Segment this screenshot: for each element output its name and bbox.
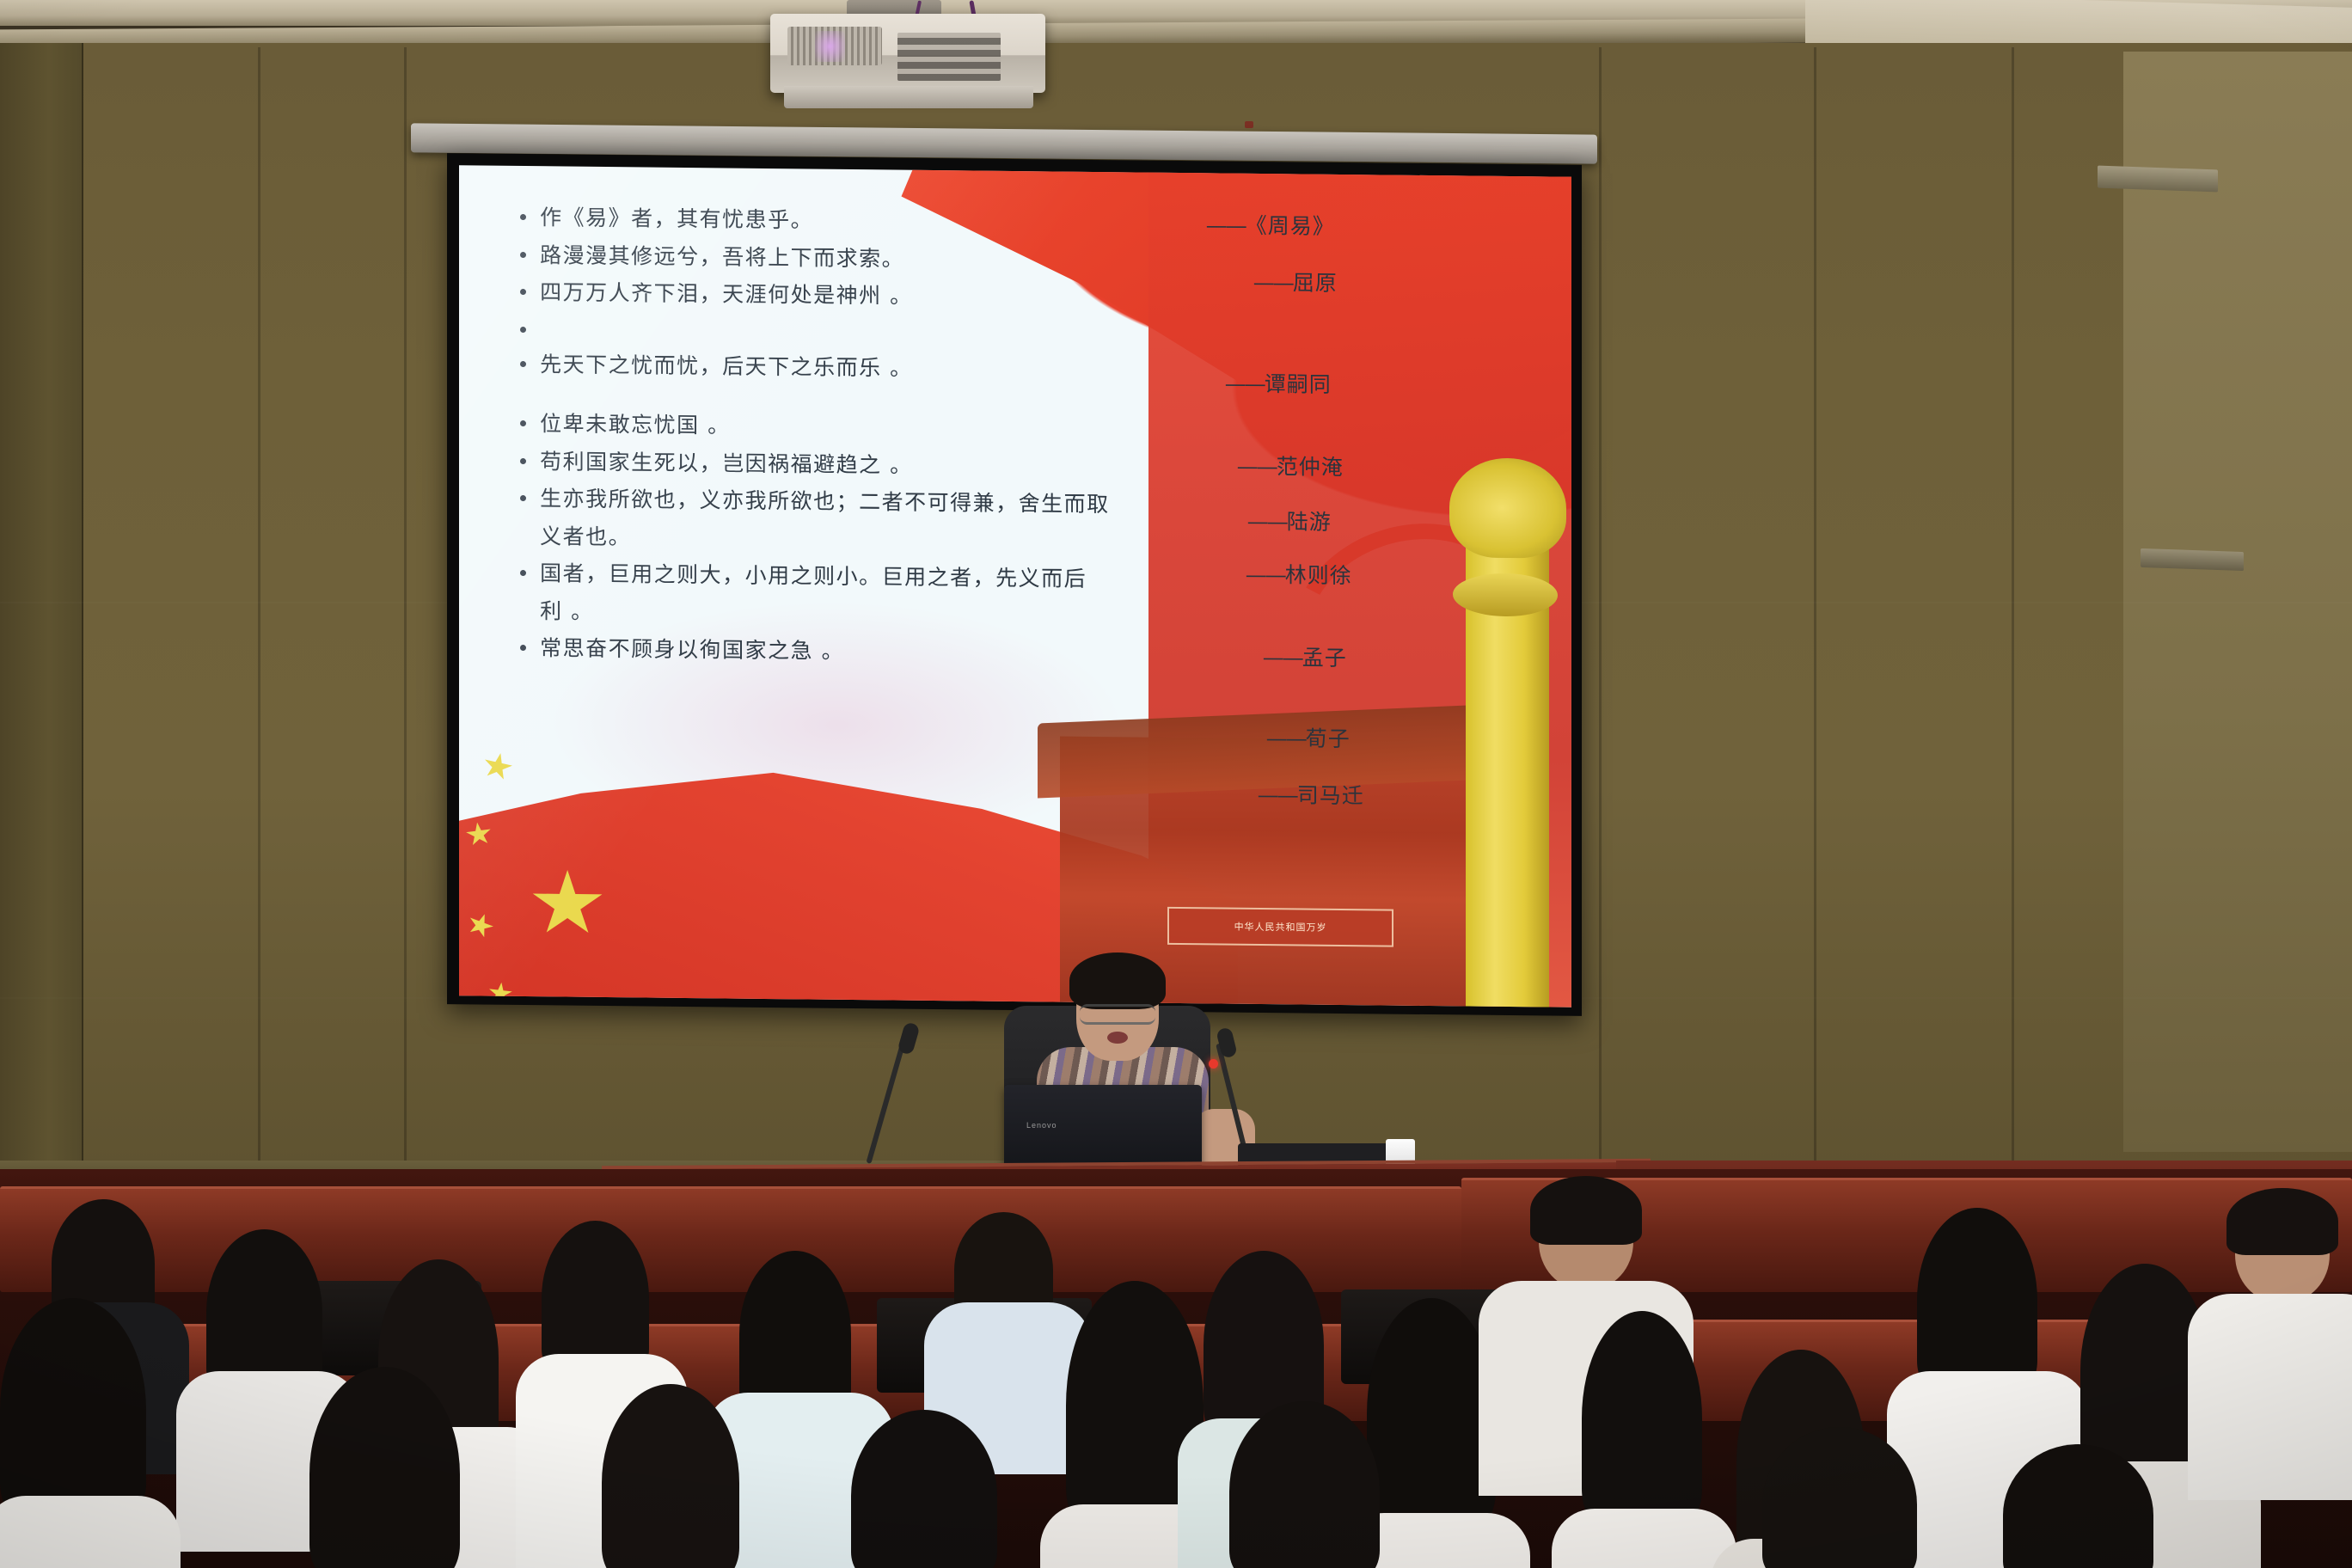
bullet-continuation: 义者也。 [520, 522, 1187, 558]
audience-area [0, 1169, 2352, 1568]
bullet-dot-icon [520, 214, 526, 220]
wall-vent [2141, 548, 2244, 571]
attribution-dash: —— [1237, 453, 1277, 478]
list-item: 位卑未敢忘忧国 。 [520, 409, 1187, 445]
bullet-text: 路漫漫其修远兮，吾将上下而求索。 [540, 241, 904, 273]
list-item: 生亦我所欲也，义亦我所欲也；二者不可得兼，舍生而取 [520, 484, 1187, 520]
attribution: ——孟子 [1263, 640, 1533, 674]
wall-panel-seam [258, 47, 260, 1182]
projector-port-panel [897, 33, 1001, 81]
bullet-text: 国者，巨用之则大，小用之则小。巨用之者，先义而后 [540, 560, 1087, 594]
attribution-dash: —— [1266, 726, 1306, 750]
microphone-active-led [1209, 1059, 1218, 1069]
projector-lamp-glow [815, 31, 845, 62]
ceiling-projector-icon [770, 14, 1045, 93]
bullet-dot-icon [520, 645, 526, 651]
attribution-dash: —— [1253, 269, 1293, 294]
attribution: ——陆游 [1247, 504, 1533, 537]
bullet-dot-icon [520, 458, 526, 464]
attribution-name: 司马迁 [1297, 782, 1364, 808]
attribution-dash: —— [1206, 212, 1246, 237]
attribution: ——谭嗣同 [1225, 366, 1533, 401]
projector-body-base [784, 86, 1033, 108]
attribution: ——林则徐 [1246, 557, 1533, 591]
speaker-mouth [1107, 1032, 1128, 1044]
bullet-dot-icon [520, 420, 526, 426]
attribution: ——范仲淹 [1237, 449, 1533, 483]
attribution-dash: —— [1263, 645, 1302, 670]
bullet-dot-icon [520, 361, 526, 367]
projection-screen: 中华人民共和国万岁 作《易》者，其有忧患乎。 路漫漫其修远兮，吾将上下而求索。 … [447, 153, 1582, 1016]
gate-banner-text: 中华人民共和国万岁 [1167, 907, 1393, 947]
wall-panel-seam [404, 47, 407, 1182]
speaker-hair [1069, 952, 1166, 1009]
wall-panel-seam [2012, 47, 2014, 1182]
attribution-name: 荀子 [1306, 726, 1351, 751]
list-item-empty [520, 315, 1187, 348]
attribution: ——《周易》 [1206, 208, 1533, 242]
attribution-dash: —— [1225, 371, 1265, 395]
wall-indicator-light [1245, 121, 1253, 128]
bullet-text: 先天下之忧而忧，后天下之乐而乐 。 [540, 350, 912, 383]
bullet-text: 苟利国家生死以，岂因祸福避趋之 。 [540, 447, 912, 480]
slide-attribution-list: ——《周易》 ——屈原 ——谭嗣同 ——范仲淹 ——陆游 ——林则徐 [1155, 207, 1533, 812]
attribution-name: 孟子 [1302, 645, 1347, 671]
attribution-dash: —— [1246, 561, 1285, 586]
list-item: 作《易》者，其有忧患乎。 [520, 203, 1187, 239]
bullet-text: 位卑未敢忘忧国 。 [540, 410, 730, 441]
speaker-glasses-icon [1080, 1004, 1155, 1025]
attribution-name: 谭嗣同 [1265, 371, 1332, 397]
list-item: 路漫漫其修远兮，吾将上下而求索。 [520, 241, 1187, 277]
attribution: ——屈原 [1253, 265, 1533, 298]
list-item: 苟利国家生死以，岂因祸福避趋之 。 [520, 447, 1187, 483]
bullet-continuation: 利 。 [520, 597, 1187, 633]
slide-surface: 中华人民共和国万岁 作《易》者，其有忧患乎。 路漫漫其修远兮，吾将上下而求索。 … [459, 165, 1571, 1008]
wall-column-left [0, 43, 83, 1195]
attribution-name: 范仲淹 [1277, 454, 1344, 480]
attribution-dash: —— [1247, 508, 1287, 533]
attribution: ——荀子 [1266, 721, 1533, 755]
bullet-dot-icon [520, 570, 526, 576]
wall-vent [2098, 166, 2218, 193]
attribution-name: 《周易》 [1246, 212, 1335, 238]
bullet-text: 生亦我所欲也，义亦我所欲也；二者不可得兼，舍生而取 [540, 485, 1110, 519]
attribution-dash: —— [1258, 782, 1297, 807]
bullet-dot-icon [520, 327, 526, 333]
bullet-text: 四万万人齐下泪，天涯何处是神州 。 [540, 279, 912, 311]
list-item: 先天下之忧而忧，后天下之乐而乐 。 [520, 350, 1187, 386]
list-item: 国者，巨用之则大，小用之则小。巨用之者，先义而后 [520, 559, 1187, 595]
bullet-dot-icon [520, 495, 526, 501]
attribution: ——司马迁 [1258, 778, 1533, 812]
list-item: 四万万人齐下泪，天涯何处是神州 。 [520, 278, 1187, 314]
attribution-name: 陆游 [1287, 509, 1332, 535]
list-item: 常思奋不顾身以徇国家之急 。 [520, 634, 1187, 670]
wall-panel-seam [1814, 47, 1816, 1182]
bullet-text: 常思奋不顾身以徇国家之急 。 [540, 634, 844, 666]
bullet-dot-icon [520, 252, 526, 258]
wall-panel-seam [1599, 47, 1602, 1182]
bullet-text: 作《易》者，其有忧患乎。 [540, 204, 813, 236]
attribution-name: 屈原 [1293, 270, 1338, 296]
slide-bullet-list: 作《易》者，其有忧患乎。 路漫漫其修远兮，吾将上下而求索。 四万万人齐下泪，天涯… [520, 203, 1187, 678]
bullet-dot-icon [520, 289, 526, 295]
lecture-hall-scene: 中华人民共和国万岁 作《易》者，其有忧患乎。 路漫漫其修远兮，吾将上下而求索。 … [0, 0, 2352, 1568]
laptop-brand-label: Lenovo [1026, 1121, 1057, 1130]
attribution-name: 林则徐 [1285, 562, 1352, 588]
